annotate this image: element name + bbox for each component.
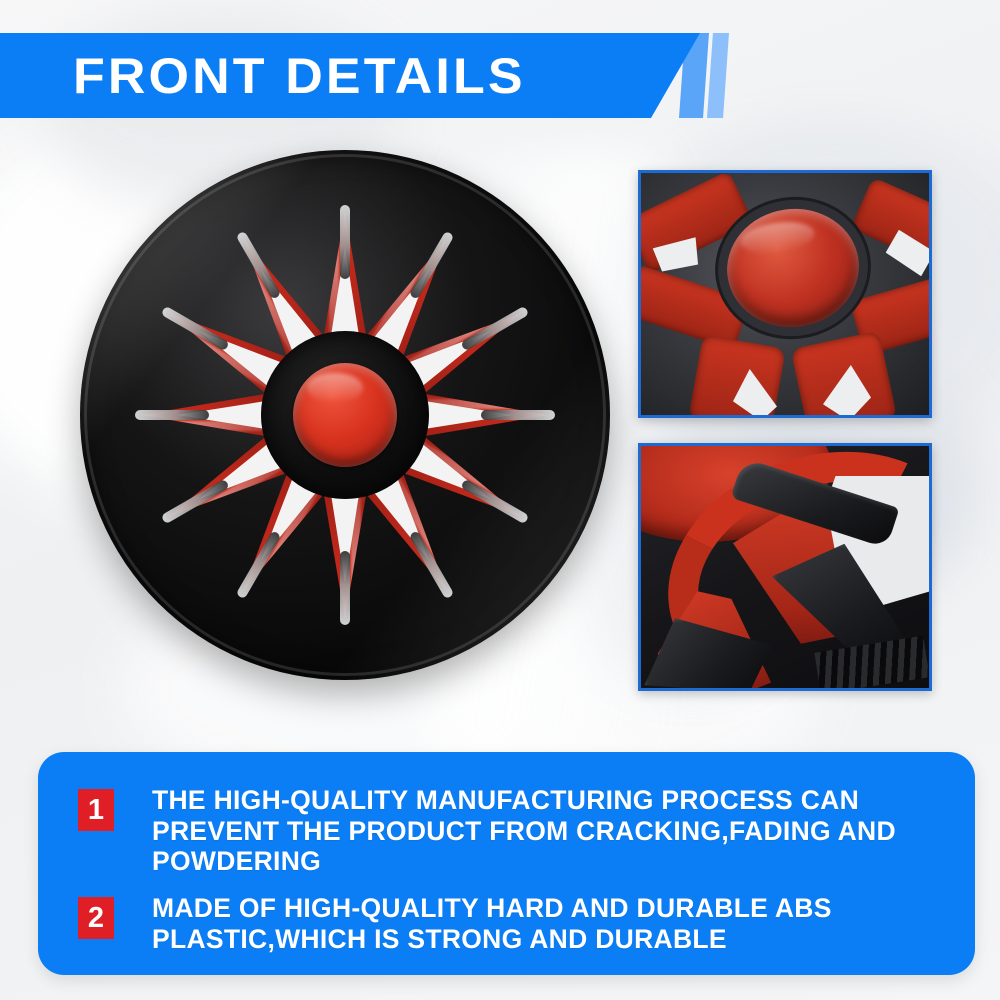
feature-item: 1 THE HIGH-QUALITY MANUFACTURING PROCESS… xyxy=(38,752,975,877)
feature-description: THE HIGH-QUALITY MANUFACTURING PROCESS C… xyxy=(152,785,922,877)
center-cap xyxy=(293,363,397,467)
banner-body: FRONT DETAILS xyxy=(0,33,700,118)
header-banner: FRONT DETAILS xyxy=(0,33,1000,118)
detail-inset-center-cap xyxy=(638,170,932,418)
wheel-cover-image xyxy=(80,150,610,680)
spoke-fin xyxy=(236,530,282,599)
spoke-fin xyxy=(460,479,529,525)
feature-description: MADE OF HIGH-QUALITY HARD AND DURABLE AB… xyxy=(152,893,922,954)
spoke-fin xyxy=(236,231,282,300)
feature-number-badge: 1 xyxy=(78,789,114,831)
feature-item: 2 MADE OF HIGH-QUALITY HARD AND DURABLE … xyxy=(38,877,975,954)
features-panel: 1 THE HIGH-QUALITY MANUFACTURING PROCESS… xyxy=(38,752,975,975)
feature-number-badge: 2 xyxy=(78,897,114,939)
page-title: FRONT DETAILS xyxy=(73,51,526,101)
spoke-fin xyxy=(340,551,350,625)
spoke-fin xyxy=(135,410,209,420)
spoke-fin xyxy=(481,410,555,420)
spoke-fin xyxy=(340,205,350,279)
main-product-photo xyxy=(62,140,624,702)
banner-accent-stripe-outer xyxy=(707,33,729,118)
product-detail-page: FRONT DETAILS xyxy=(0,0,1000,1000)
spoke-fin xyxy=(409,231,455,300)
spoke-fin xyxy=(460,306,529,352)
spoke-fin xyxy=(409,530,455,599)
spoke-fin xyxy=(161,479,230,525)
spoke-fin xyxy=(161,306,230,352)
detail-inset-spoke xyxy=(638,443,932,691)
